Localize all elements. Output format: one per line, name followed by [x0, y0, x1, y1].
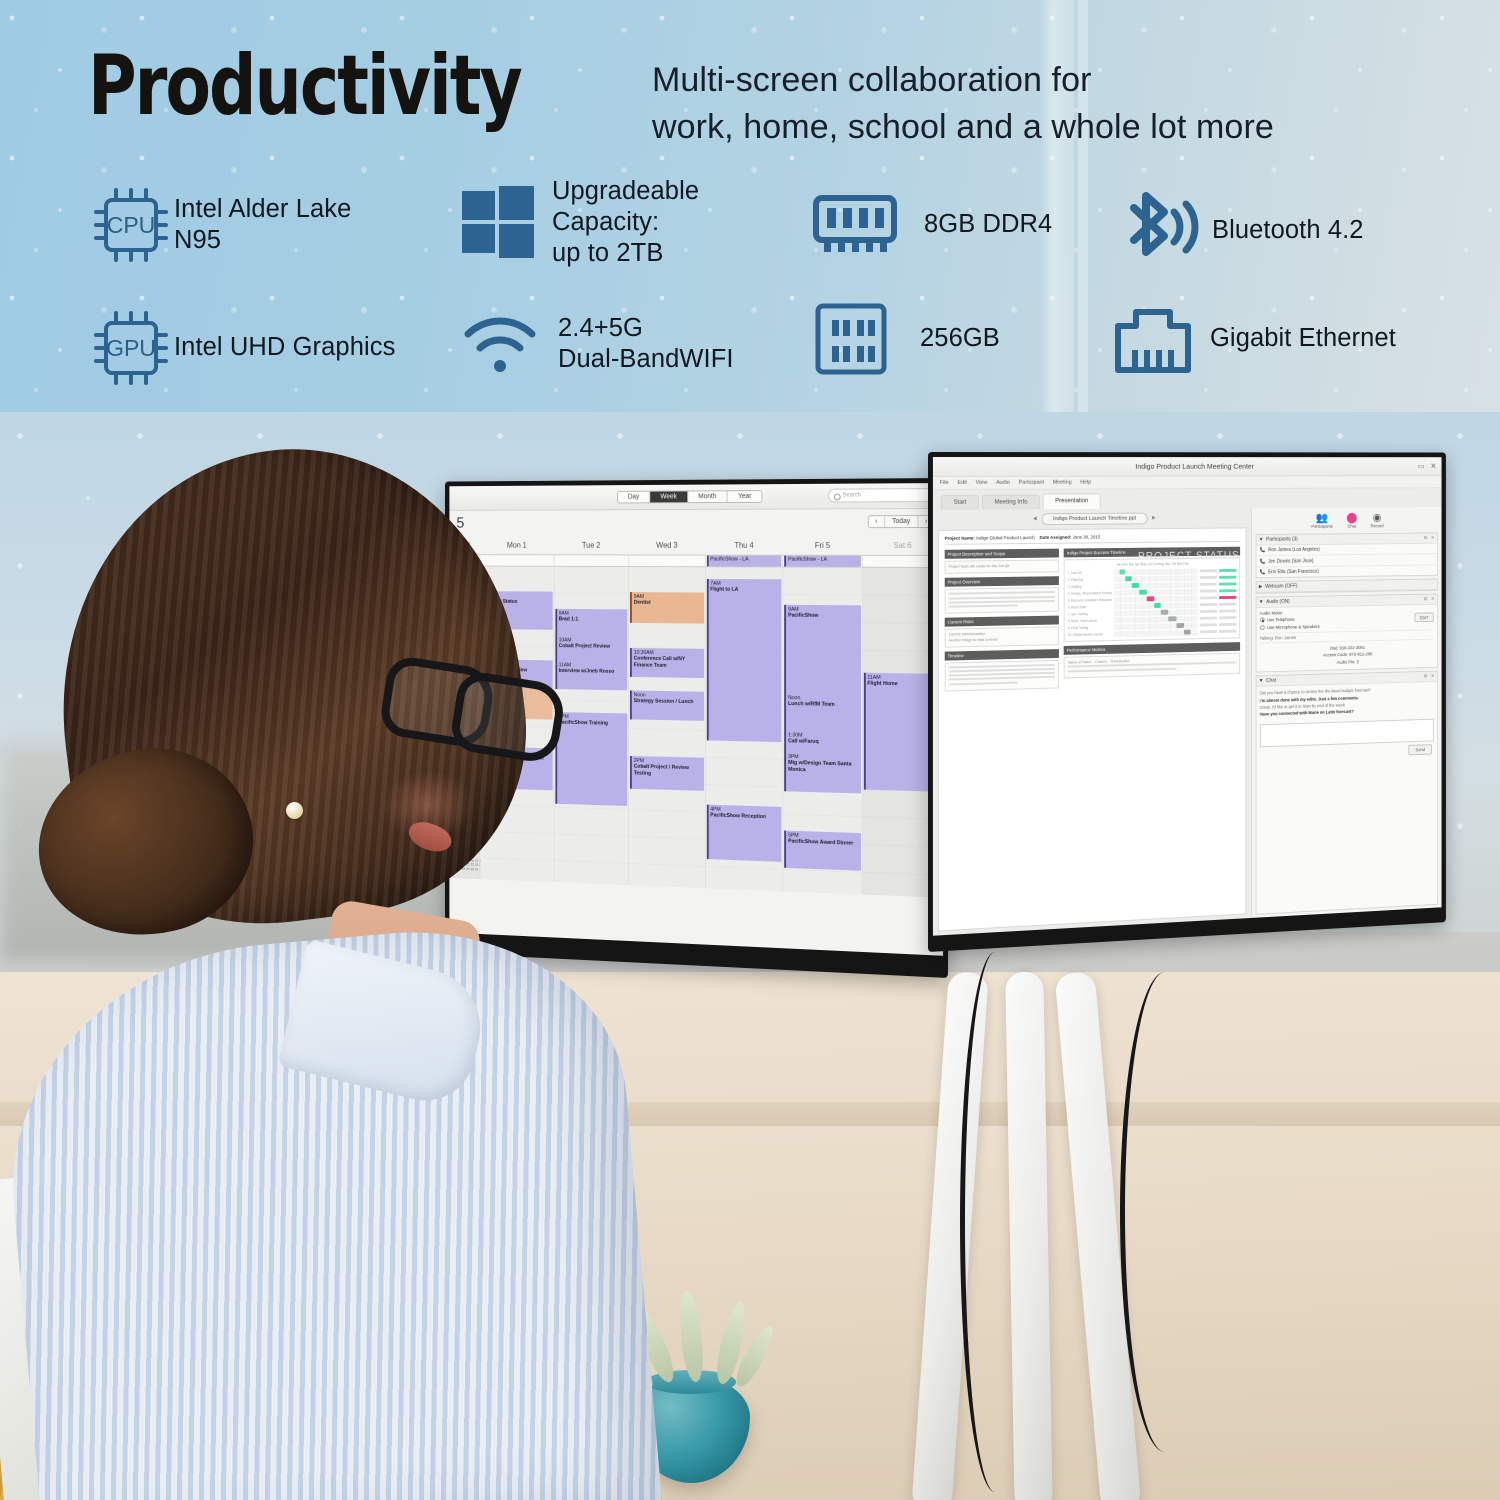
spec-memory: 8GB DDR4: [812, 192, 1052, 258]
tab-start[interactable]: Start: [941, 495, 979, 510]
participants-panel-header[interactable]: ▼ Participants (3) ⚙ ✕: [1256, 533, 1437, 545]
upgrade-line3: up to 2TB: [552, 238, 699, 269]
spec-banner: Productivity Multi-screen collaboration …: [0, 0, 1500, 412]
allday-col-fri: PacificShow - LA: [783, 556, 862, 567]
webcam-panel[interactable]: ▶ Webcam (OFF): [1255, 579, 1438, 594]
slide-navigation[interactable]: ◄ Indigo Product Launch Timeline.ppt ►: [938, 512, 1246, 526]
ssd-chip-icon: [812, 300, 890, 378]
gantt-task-label: 10. Official Market Launch: [1068, 632, 1112, 637]
office-photo-scene: Day Week Month Year Search 5 ‹ Today ›: [0, 412, 1500, 1500]
spec-bluetooth-label: Bluetooth 4.2: [1212, 215, 1364, 246]
subtitle-line-1: Multi-screen collaboration for: [652, 57, 1274, 104]
chevron-down-icon[interactable]: ▼: [1259, 537, 1264, 543]
section-scope-note: Project Team will create for this 2nd Qt…: [945, 559, 1060, 574]
document-header: Project Name: Indigo Global Product Laun…: [945, 533, 1240, 545]
window-controls[interactable]: ▭ ✕: [1418, 462, 1437, 470]
document-left-column: Project Description and Scope Project Te…: [945, 549, 1060, 696]
chat-label: Chat: [1347, 524, 1356, 529]
gantt-status: [1200, 623, 1236, 626]
spec-ethernet: Gigabit Ethernet: [1108, 300, 1396, 378]
webcam-panel-header[interactable]: ▶ Webcam (OFF): [1256, 580, 1437, 593]
chat-panel-title: Chat: [1266, 678, 1276, 684]
calendar-event[interactable]: 1:30M Call w/Faruq: [784, 730, 860, 753]
meeting-body: ◄ Indigo Product Launch Timeline.ppt ► P…: [933, 507, 1442, 936]
gantt-task-label: 5. Resource Hardware Resources: [1068, 597, 1112, 602]
calendar-event[interactable]: 4PM PacificShow Reception: [707, 805, 782, 862]
svg-text:GPU: GPU: [106, 335, 156, 361]
allday-col-thu: PacificShow - LA: [706, 556, 784, 567]
gantt-track: [1114, 568, 1198, 575]
gantt-status: [1200, 596, 1236, 599]
upgrade-line1: Upgradeable: [552, 176, 699, 207]
upgrade-line2: Capacity:: [552, 207, 699, 238]
record-icon: ◉: [1371, 513, 1384, 524]
wifi-line1: 2.4+5G: [558, 313, 734, 344]
event-time: 7AM: [710, 580, 720, 586]
participant-name: Ron James (Los Angeles): [1268, 547, 1320, 553]
record-button[interactable]: ◉ Record: [1371, 513, 1384, 528]
calendar-column-fri: 9AM PacificShow Noon Lunch w/RfM Team 1:…: [783, 567, 862, 894]
participant-row[interactable]: 📞 Erin Ellis (San Francisco): [1256, 565, 1437, 577]
right-monitor: Indigo Product Launch Meeting Center ▭ ✕…: [928, 452, 1446, 952]
meeting-screen: Indigo Product Launch Meeting Center ▭ ✕…: [933, 457, 1442, 936]
presentation-pane: ◄ Indigo Product Launch Timeline.ppt ► P…: [933, 508, 1251, 936]
phone-icon: 📞: [1260, 569, 1266, 575]
tab-presentation[interactable]: Presentation: [1043, 493, 1101, 509]
spec-cpu-label: Intel Alder Lake N95: [174, 194, 351, 256]
spec-wifi-label: 2.4+5G Dual-BandWIFI: [558, 313, 734, 375]
spec-cpu-line2: N95: [174, 225, 351, 256]
memory-module-icon: [812, 192, 898, 258]
phone-icon: 📞: [1260, 548, 1266, 554]
radio-selected-icon[interactable]: [1260, 618, 1265, 623]
date-assigned-value: June 30, 2015: [1073, 534, 1101, 539]
chat-message-list: Did you have a chance to review the the …: [1256, 682, 1437, 722]
day-header-fri: Fri 5: [783, 537, 862, 555]
chevron-right-icon[interactable]: ▶: [1259, 584, 1263, 590]
project-name-value: Indigo Global Product Launch: [976, 535, 1035, 540]
gantt-status: [1200, 616, 1236, 619]
menu-help[interactable]: Help: [1080, 480, 1091, 486]
calendar-column-thu: 7AM Flight to LA 4PM PacificShow Recepti…: [706, 567, 784, 891]
meeting-window-titlebar: Indigo Product Launch Meeting Center ▭ ✕: [933, 457, 1442, 477]
tab-meeting-info[interactable]: Meeting Info: [982, 495, 1040, 510]
spec-storage: 256GB: [812, 300, 1000, 378]
subtitle-line-2: work, home, school and a whole lot more: [652, 104, 1274, 151]
phone-icon: 📞: [1260, 559, 1266, 565]
wifi-line2: Dual-BandWIFI: [558, 344, 734, 375]
calendar-date-nav[interactable]: ‹ Today ›: [867, 515, 935, 528]
panel-controls[interactable]: ⚙ ✕: [1424, 673, 1435, 679]
gantt-task-label: 1. Kick Off: [1068, 570, 1112, 575]
monitor-cable: [1120, 972, 1210, 1452]
event-title: Mtg w/Design Team Santa Monica: [788, 760, 859, 775]
slide-next-button[interactable]: ►: [1151, 515, 1157, 521]
menu-edit[interactable]: Edit: [957, 480, 966, 486]
document-columns: Project Description and Scope Project Te…: [945, 547, 1240, 696]
menu-view[interactable]: View: [976, 480, 988, 486]
metrics-header: Current: [1095, 660, 1106, 666]
chat-button[interactable]: ⬤ Chat: [1346, 513, 1357, 528]
spec-ethernet-label: Gigabit Ethernet: [1210, 323, 1396, 354]
section-title: Project Description and Scope: [945, 549, 1060, 559]
audio-edit-button[interactable]: EDIT: [1415, 613, 1434, 623]
product-marketing-image: Productivity Multi-screen collaboration …: [0, 0, 1500, 1500]
gantt-status: [1200, 610, 1236, 613]
cpu-chip-icon: CPU: [88, 182, 174, 268]
gear-icon[interactable]: ⚙: [1424, 673, 1428, 679]
participants-panel-title: Participants (3): [1266, 537, 1298, 543]
audio-option-microphone[interactable]: Use Microphone & Speakers: [1260, 621, 1434, 629]
gantt-task-label: 4. Design / Brand Assets Development: [1068, 591, 1112, 596]
close-icon[interactable]: ✕: [1431, 596, 1435, 602]
allday-event[interactable]: PacificShow - LA: [707, 556, 782, 567]
event-title: PacificShow Award Dinner: [788, 839, 859, 848]
metrics-table: Name of Factor Current % Reduction: [1064, 653, 1240, 679]
bluetooth-icon: [1108, 186, 1200, 276]
chat-bubble-icon: ⬤: [1346, 513, 1357, 524]
chat-input[interactable]: [1260, 719, 1434, 748]
gantt-status: [1200, 630, 1236, 633]
calendar-today-button[interactable]: Today: [885, 516, 918, 527]
calendar-prev-button[interactable]: ‹: [868, 516, 885, 527]
event-title: PacificShow: [788, 613, 859, 620]
gantt-task-label: 6. Asset Draft: [1068, 604, 1112, 609]
spec-cpu-line1: Intel Alder Lake: [174, 194, 351, 225]
gear-icon[interactable]: ⚙: [1424, 535, 1428, 541]
spec-storage-label: 256GB: [920, 323, 1000, 354]
metrics-header: Name of Factor: [1068, 660, 1092, 666]
gantt-status: [1200, 589, 1236, 592]
gantt-task-label: 3. Staging: [1068, 584, 1112, 589]
event-title: PacificShow Reception: [710, 813, 779, 822]
meeting-sidebar: 👥 Participants ⬤ Chat ◉ Record: [1251, 507, 1442, 918]
monitor-cable: [960, 952, 1030, 1492]
record-label: Record: [1371, 523, 1384, 528]
gantt-status: [1200, 603, 1236, 606]
audio-option-microphone-label: Use Microphone & Speakers: [1267, 624, 1320, 630]
spec-wifi: 2.4+5G Dual-BandWIFI: [458, 310, 734, 378]
gantt-task-label: 2. Planning: [1068, 577, 1112, 582]
event-time: 9AM: [788, 606, 799, 612]
event-time: 5PM: [788, 832, 799, 838]
event-time: 1:30M: [788, 732, 802, 738]
audio-option-telephone-label: Use Telephone: [1267, 617, 1295, 622]
audio-panel-title: Audio (ON): [1266, 599, 1289, 605]
view-month[interactable]: Month: [688, 491, 728, 502]
dial-info: Dial: 916-222-3081 Access Code: 972-812-…: [1260, 642, 1434, 668]
section-title: Current Risks: [945, 616, 1060, 627]
event-time: 11AM: [867, 674, 880, 680]
gear-icon[interactable]: ⚙: [1424, 596, 1428, 602]
view-year[interactable]: Year: [728, 491, 762, 502]
talking-indicator: Talking: Ron James: [1260, 629, 1434, 643]
menu-participant[interactable]: Participant: [1019, 480, 1044, 486]
gantt-task-label: 9. Final Testing: [1068, 625, 1112, 630]
date-assigned-label: Date Assigned:: [1040, 535, 1072, 540]
chat-send-button[interactable]: Send: [1409, 744, 1432, 755]
project-name-label: Project Name:: [945, 536, 975, 541]
event-time: 4PM: [710, 806, 720, 812]
calendar-event[interactable]: 5PM PacificShow Award Dinner: [784, 831, 860, 871]
wifi-icon: [458, 310, 542, 378]
meeting-window-title: Indigo Product Launch Meeting Center: [1135, 462, 1254, 471]
audio-panel: ▼ Audio (ON) ⚙ ✕ Audio Mode:: [1255, 594, 1438, 673]
day-header-thu: Thu 4: [705, 537, 783, 555]
event-title: Lunch w/RfM Team: [788, 701, 859, 709]
gantt-task-label: 8. Beta / Final Launch: [1068, 618, 1112, 623]
menu-meeting[interactable]: Meeting: [1053, 480, 1072, 486]
section-overview-body: [945, 587, 1060, 613]
event-time: 3PM: [788, 754, 799, 760]
gantt-status: [1200, 569, 1236, 572]
meeting-app: Indigo Product Launch Meeting Center ▭ ✕…: [933, 457, 1442, 936]
earring: [286, 802, 303, 819]
metrics-header: % Reduction: [1110, 659, 1129, 665]
spec-gpu: GPU Intel UHD Graphics: [88, 305, 395, 391]
menu-file[interactable]: File: [940, 480, 949, 486]
svg-text:CPU: CPU: [107, 212, 156, 238]
ethernet-port-icon: [1108, 300, 1198, 378]
section-title: Project Overview: [945, 577, 1060, 588]
document-watermark: PROJECT STATUS: [1138, 550, 1240, 563]
spec-memory-label: 8GB DDR4: [924, 209, 1052, 240]
calendar-search-input[interactable]: Search: [828, 488, 935, 502]
chevron-down-icon[interactable]: ▼: [1259, 678, 1264, 684]
section-risks-body: Current risks/escalation Another bridge …: [945, 627, 1060, 648]
page-subtitle: Multi-screen collaboration for work, hom…: [652, 57, 1274, 151]
participants-button[interactable]: 👥 Participants: [1311, 513, 1333, 528]
minimize-icon[interactable]: ▭: [1418, 462, 1425, 470]
gantt-track: [1114, 629, 1198, 637]
spec-storage-upgrade-label: Upgradeable Capacity: up to 2TB: [552, 176, 699, 269]
participants-panel: ▼ Participants (3) ⚙ ✕ 📞 Ron Jame: [1255, 532, 1438, 578]
close-icon[interactable]: ✕: [1431, 535, 1435, 541]
spec-storage-upgrade: Upgradeable Capacity: up to 2TB: [458, 176, 699, 269]
panel-controls[interactable]: ⚙ ✕: [1424, 535, 1435, 541]
participant-name: Jen Downs (San Jose): [1268, 558, 1313, 564]
calendar-event[interactable]: 3PM Mtg w/Design Team Santa Monica: [784, 752, 860, 793]
webcam-panel-title: Webcam (OFF): [1265, 584, 1297, 590]
spec-gpu-label: Intel UHD Graphics: [174, 332, 395, 363]
participants-label: Participants: [1311, 524, 1333, 529]
slide-title[interactable]: Indigo Product Launch Timeline.ppt: [1042, 513, 1148, 526]
meeting-toolbar[interactable]: 👥 Participants ⬤ Chat ◉ Record: [1255, 510, 1438, 531]
section-timeline-body: [945, 660, 1060, 692]
allday-event[interactable]: PacificShow - LA: [784, 556, 860, 567]
slide-prev-button[interactable]: ◄: [1032, 516, 1038, 522]
radio-unselected-icon[interactable]: [1260, 625, 1265, 630]
gpu-chip-icon: GPU: [88, 305, 174, 391]
audio-panel-body: Audio Mode: Use Telephone Use Microphone…: [1256, 605, 1437, 672]
close-icon[interactable]: ✕: [1431, 462, 1437, 470]
chat-panel: ▼ Chat ⚙ ✕ Did you have a chance to revi…: [1255, 671, 1438, 915]
project-status-document: Project Name: Indigo Global Product Laun…: [938, 527, 1246, 931]
gantt-status: [1200, 583, 1236, 586]
calendar-event[interactable]: Noon Lunch w/RfM Team: [784, 693, 860, 724]
gantt-status: [1200, 576, 1236, 579]
windows-logo-icon: [458, 183, 538, 263]
spec-bluetooth: Bluetooth 4.2: [1108, 186, 1364, 276]
view-week[interactable]: Week: [650, 491, 688, 502]
person: [0, 440, 650, 1500]
section-title: Timeline: [945, 649, 1060, 661]
gantt-chart: Jan Feb Mar Apr May Jun Jul Aug Sep Oct …: [1064, 557, 1240, 642]
panel-controls[interactable]: ⚙ ✕: [1424, 596, 1435, 602]
event-title: Flight to LA: [710, 587, 779, 594]
event-title: Call w/Faruq: [788, 739, 859, 747]
gantt-task-label: 7. QA / Testing: [1068, 611, 1112, 616]
participant-name: Erin Ellis (San Francisco): [1268, 569, 1319, 575]
close-icon[interactable]: ✕: [1431, 673, 1435, 679]
menu-audio[interactable]: Audio: [996, 480, 1010, 486]
spec-cpu: CPU Intel Alder Lake N95: [88, 182, 351, 268]
page-title: Productivity: [88, 44, 521, 127]
document-right-column: Indigo Project Success Timeline Jan Feb …: [1064, 547, 1240, 692]
participants-icon: 👥: [1311, 513, 1333, 524]
event-time: Noon: [788, 695, 800, 701]
chevron-down-icon[interactable]: ▼: [1259, 599, 1264, 605]
calendar-event[interactable]: 7AM Flight to LA: [707, 579, 782, 742]
